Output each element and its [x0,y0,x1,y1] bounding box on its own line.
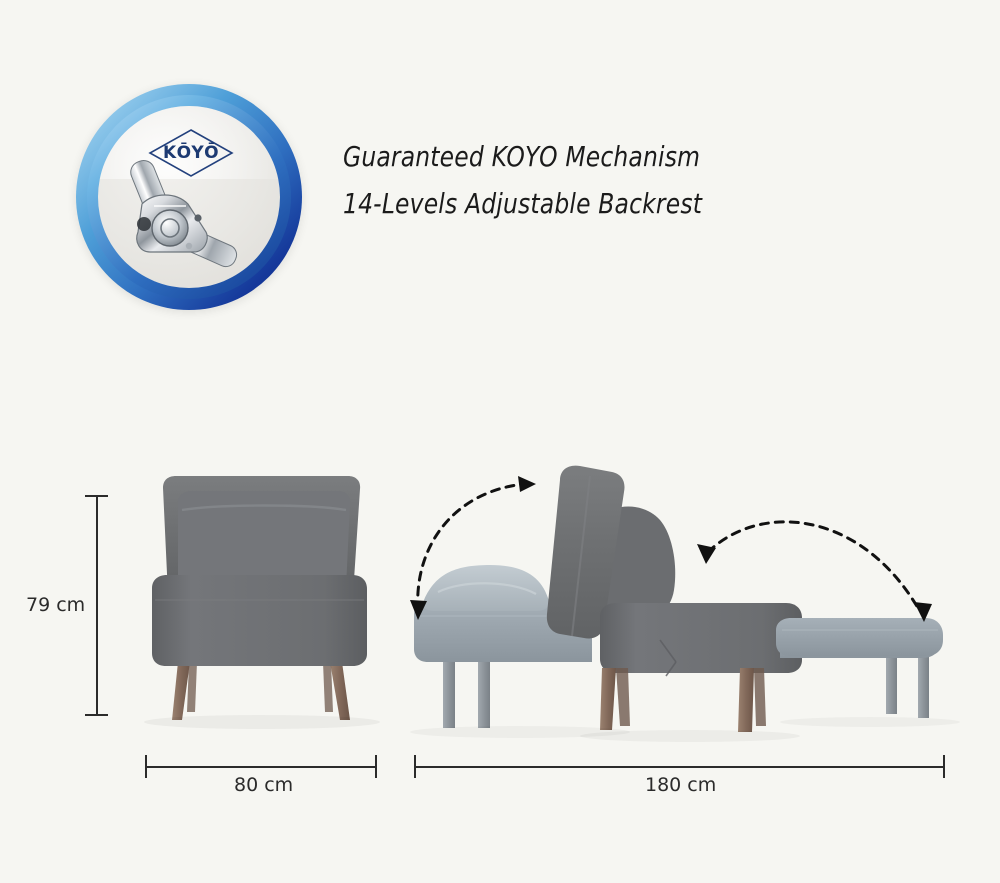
dimension-bed-width-cap-right [943,755,945,778]
headline-line-1: Guaranteed KOYO Mechanism [343,133,827,180]
badge-face: KŌYŌ [98,106,280,288]
dimension-chair-width-cap-left [145,755,147,778]
product-infographic: KŌYŌ [0,0,1000,883]
dimension-bed-width-label: 180 cm [645,774,716,796]
koyo-mechanism-badge: KŌYŌ [76,84,302,310]
dimension-bed-width-cap-left [414,755,416,778]
hinge-mechanism-icon [114,158,244,268]
dimension-height-cap-top [85,495,108,497]
dimension-chair-width-line [146,766,376,768]
headline: Guaranteed KOYO Mechanism 14-Levels Adju… [343,133,827,227]
dimension-height-label: 79 cm [26,594,85,616]
dimension-bed-width-line [415,766,945,768]
motion-arrows [0,440,1000,750]
headline-line-2: 14-Levels Adjustable Backrest [343,180,827,227]
recline-arrow-right [697,522,932,622]
dimension-chair-width-cap-right [375,755,377,778]
recline-arrow-left [410,476,536,620]
dimension-height-cap-bottom [85,714,108,716]
dimension-height-line [96,496,98,715]
dimension-chair-width-label: 80 cm [234,774,293,796]
badge-ring: KŌYŌ [76,84,302,310]
